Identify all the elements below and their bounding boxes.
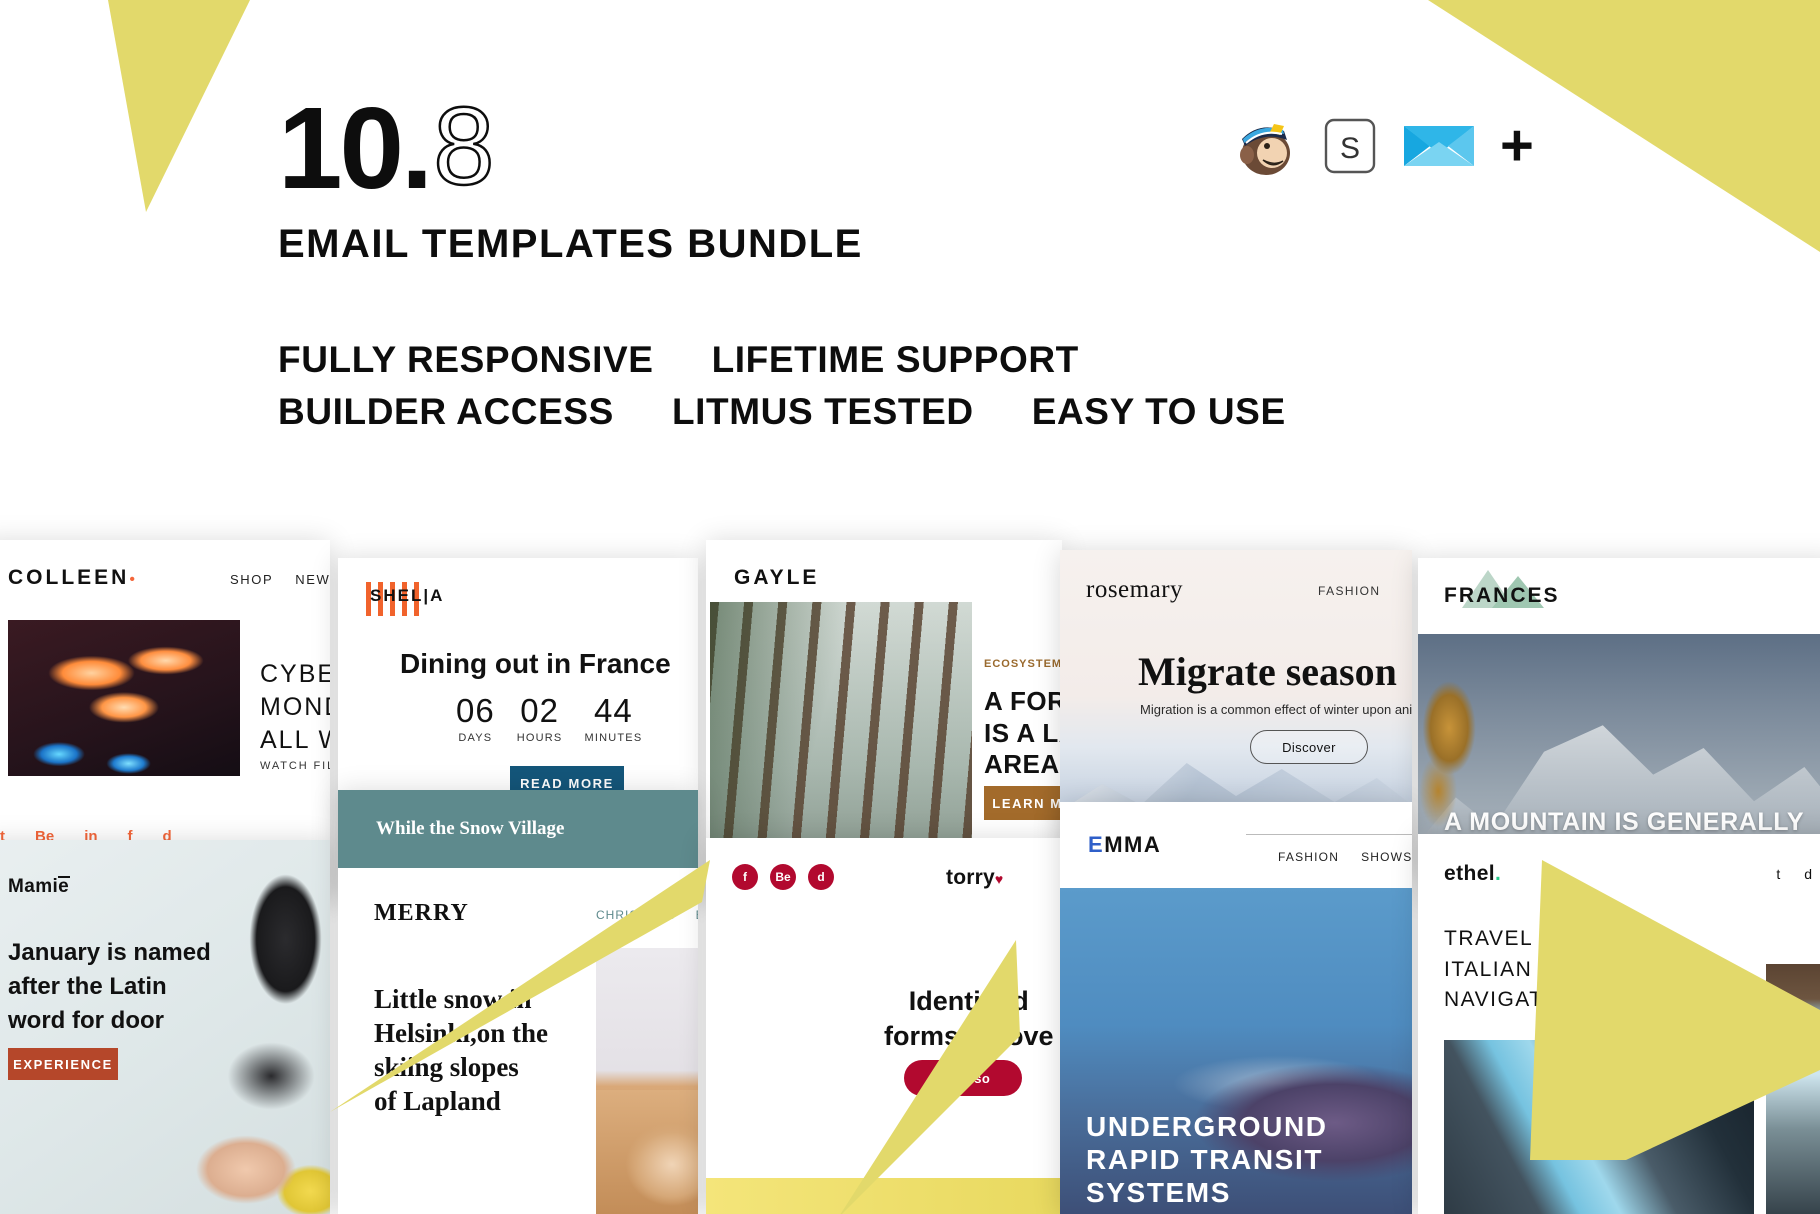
- gayle-headline: A FOREST IS A LARGE AREA: [984, 686, 1062, 781]
- svg-text:S: S: [1340, 132, 1360, 165]
- version-number: 10 . 8: [278, 96, 1820, 200]
- merry-cat-image: [596, 948, 698, 1214]
- emma-logo: EMMA: [1088, 832, 1161, 858]
- torry-social-row[interactable]: f Be d: [732, 864, 834, 890]
- heart-icon: ♥: [995, 871, 1004, 887]
- ethel-window-image: [1766, 964, 1820, 1214]
- merry-nav[interactable]: CHRISTMAS B: [596, 908, 698, 922]
- colleen-nav-shop[interactable]: SHOP: [230, 572, 273, 587]
- merry-cat-shape: [596, 1090, 698, 1214]
- feature-builder-access: BUILDER ACCESS: [278, 391, 614, 433]
- colleen-logo-dot: •: [129, 571, 135, 588]
- template-card-emma[interactable]: EMMA FASHION SHOWS UNDERGROUND RAPID TRA…: [1060, 802, 1412, 1214]
- template-card-merry[interactable]: While the Snow Village MERRY CHRISTMAS B…: [338, 790, 698, 1214]
- colleen-watch-film-link[interactable]: WATCH FILM: [260, 760, 330, 772]
- gayle-eyebrow: ECOSYSTEM OF FOREST: [984, 658, 1062, 670]
- countdown-hours: 02 HOURS: [517, 692, 563, 744]
- emma-divider: [1246, 834, 1412, 835]
- merry-headline: Little snow in Helsinki,on the skiing sl…: [374, 982, 548, 1118]
- twitter-icon[interactable]: t: [1776, 866, 1780, 882]
- hero-section: 10 . 8 EMAIL TEMPLATES BUNDLE FULLY RESP…: [0, 0, 1820, 433]
- dribbble-icon[interactable]: d: [808, 864, 834, 890]
- version-dot: .: [401, 96, 433, 200]
- ethel-city-image: [1444, 1040, 1754, 1214]
- feature-row-2: BUILDER ACCESS LITMUS TESTED EASY TO USE: [278, 391, 1820, 433]
- mamie-logo-bar: [58, 876, 70, 878]
- colleen-hero-image: [8, 620, 240, 776]
- page-title: EMAIL TEMPLATES BUNDLE: [278, 222, 1820, 267]
- mamie-experience-button[interactable]: EXPERIENCE: [8, 1048, 118, 1080]
- version-major: 10: [278, 96, 401, 200]
- rosemary-headline: Migrate season: [1138, 648, 1397, 695]
- emma-nav-fashion[interactable]: FASHION: [1278, 850, 1339, 864]
- plus-icon: +: [1500, 126, 1534, 167]
- mailchimp-icon: [1230, 115, 1296, 177]
- frances-logo: FRANCES: [1444, 584, 1560, 608]
- rosemary-logo: rosemary: [1086, 576, 1183, 604]
- gayle-learn-more-button[interactable]: LEARN MORE: [984, 786, 1062, 820]
- feature-fully-responsive: FULLY RESPONSIVE: [278, 339, 654, 381]
- template-card-ethel[interactable]: ethel. t d TRAVEL WITH US! ITALIAN EXPLO…: [1418, 834, 1820, 1214]
- colleen-logo: COLLEEN•: [8, 566, 135, 590]
- campaign-monitor-icon: [1404, 120, 1474, 172]
- shelia-logo: SHEL|A: [366, 582, 448, 610]
- rosemary-discover-button[interactable]: Discover: [1250, 730, 1368, 764]
- torry-see-also-button[interactable]: see also: [904, 1060, 1022, 1096]
- dribbble-icon[interactable]: d: [1804, 866, 1812, 882]
- ethel-social-row[interactable]: t d: [1776, 866, 1812, 882]
- mamie-logo: Mamie: [8, 876, 81, 898]
- facebook-icon[interactable]: f: [732, 864, 758, 890]
- platform-icons: S +: [1230, 115, 1534, 177]
- version-minor: 8: [433, 96, 494, 198]
- ethel-headline: TRAVEL WITH US! ITALIAN EXPLORER, NAVIGA…: [1444, 924, 1712, 1016]
- feature-easy-to-use: EASY TO USE: [1032, 391, 1286, 433]
- rosemary-subtitle: Migration is a common effect of winter u…: [1140, 702, 1412, 717]
- feature-list: FULLY RESPONSIVE LIFETIME SUPPORT BUILDE…: [278, 339, 1820, 433]
- colleen-nav[interactable]: SHOP NEW: [230, 572, 330, 587]
- template-grid: COLLEEN• SHOP NEW CYBER MONDAY ALL WEEK …: [0, 540, 1820, 1214]
- torry-bottom-strip: [706, 1178, 1062, 1214]
- stampready-icon: S: [1322, 116, 1378, 176]
- gayle-logo: GAYLE: [734, 566, 819, 590]
- rosemary-nav-fashion[interactable]: FASHION: [1318, 584, 1380, 598]
- colleen-nav-new[interactable]: NEW: [295, 572, 330, 587]
- behance-icon[interactable]: Be: [770, 864, 796, 890]
- emma-nav-shows[interactable]: SHOWS: [1361, 850, 1412, 864]
- ethel-logo-accent: .: [1495, 862, 1501, 885]
- colleen-headline: CYBER MONDAY ALL WEEK: [260, 658, 330, 757]
- ethel-logo: ethel.: [1444, 862, 1501, 886]
- torry-logo: torry♥: [946, 866, 1003, 890]
- feature-row-1: FULLY RESPONSIVE LIFETIME SUPPORT: [278, 339, 1820, 381]
- shelia-headline: Dining out in France: [400, 648, 671, 680]
- countdown-days: 06 DAYS: [456, 692, 495, 744]
- emma-building-image: UNDERGROUND RAPID TRANSIT SYSTEMS: [1060, 888, 1412, 1214]
- merry-nav-christmas[interactable]: CHRISTMAS: [596, 908, 676, 922]
- emma-headline: UNDERGROUND RAPID TRANSIT SYSTEMS: [1086, 1110, 1328, 1209]
- template-card-mamie[interactable]: Mamie January is named after the Latin w…: [0, 840, 330, 1214]
- shelia-countdown: 06 DAYS 02 HOURS 44 MINUTES: [456, 692, 642, 744]
- countdown-minutes: 44 MINUTES: [584, 692, 642, 744]
- merry-logo: MERRY: [374, 900, 469, 927]
- merry-banner-text: While the Snow Village: [376, 818, 564, 840]
- template-card-torry[interactable]: f Be d torry♥ Identified forms of love s…: [706, 838, 1062, 1214]
- merry-nav-b[interactable]: B: [696, 908, 698, 922]
- feature-lifetime-support: LIFETIME SUPPORT: [712, 339, 1079, 381]
- torry-headline: Identified forms of love: [884, 984, 1054, 1054]
- emma-nav[interactable]: FASHION SHOWS: [1278, 850, 1412, 864]
- mamie-headline: January is named after the Latin word fo…: [8, 936, 211, 1038]
- feature-litmus-tested: LITMUS TESTED: [672, 391, 974, 433]
